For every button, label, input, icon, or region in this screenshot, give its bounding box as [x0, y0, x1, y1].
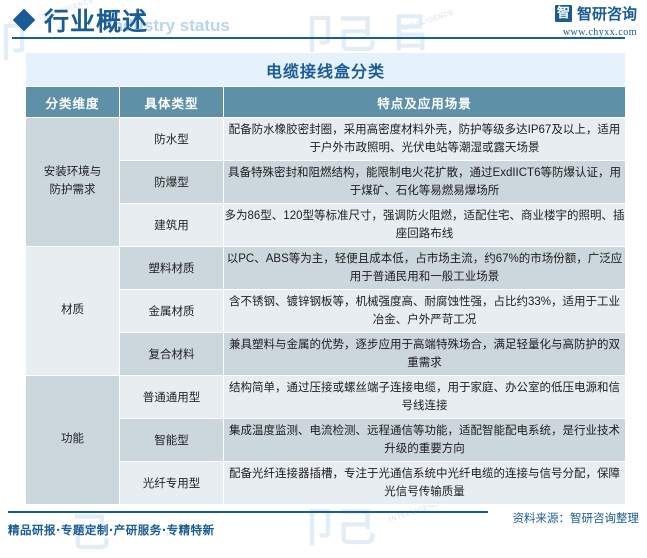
header-divider [12, 37, 625, 39]
classification-table: 电缆接线盒分类分类维度具体类型特点及应用场景安装环境与防护需求防水型配备防水橡胶… [25, 52, 626, 505]
brand-block: 智 智研咨询 www.chyxx.com [555, 3, 637, 38]
table-row: 材质塑料材质以PC、ABS等为主，轻便且成本低，占市场主流，约67%的市场份额，… [26, 247, 625, 289]
footer-source: 资料来源：智研咨询整理 [513, 510, 640, 526]
table-row: 功能普通通用型结构简单，通过压接或螺丝端子连接电缆，用于家庭、办公室的低压电源和… [26, 376, 625, 418]
dimension-cell: 材质 [26, 247, 119, 375]
page-footer: 精品研报·专题定制·产研服务·专精特新 资料来源：智研咨询整理 [0, 502, 647, 546]
footer-tagline: 精品研报·专题定制·产研服务·专精特新 [8, 522, 215, 538]
table-row: 安装环境与防护需求防水型配备防水橡胶密封圈，采用高密度材料外壳，防护等级多达IP… [26, 118, 625, 160]
type-cell: 复合材料 [120, 333, 223, 375]
description-cell: 集成温度监测、电流检测、远程通信等功能，适配智能配电系统，是行业技术升级的重要方… [224, 419, 625, 461]
classification-table-wrapper: 电缆接线盒分类分类维度具体类型特点及应用场景安装环境与防护需求防水型配备防水橡胶… [25, 52, 624, 505]
description-cell: 兼具塑料与金属的优势，逐步应用于高端特殊场合，满足轻量化与高防护的双重需求 [224, 333, 625, 375]
page-header: Industry status 行业概述 智 智研咨询 www.chyxx.co… [0, 0, 647, 45]
page-title: 行业概述 [44, 2, 148, 38]
type-cell: 智能型 [120, 419, 223, 461]
type-cell: 普通通用型 [120, 376, 223, 418]
description-cell: 具备特殊密封和阻燃结构，能限制电火花扩散，通过ExdIICT6等防爆认证，用于煤… [224, 161, 625, 203]
column-header-1: 具体类型 [120, 87, 223, 117]
table-header-row: 分类维度具体类型特点及应用场景 [26, 87, 625, 117]
description-cell: 结构简单，通过压接或螺丝端子连接电缆，用于家庭、办公室的低压电源和信号线连接 [224, 376, 625, 418]
type-cell: 建筑用 [120, 204, 223, 246]
type-cell: 塑料材质 [120, 247, 223, 289]
type-cell: 金属材质 [120, 290, 223, 332]
description-cell: 多为86型、120型等标准尺寸，强调防火阻燃，适配住宅、商业楼宇的照明、插座回路… [224, 204, 625, 246]
description-cell: 以PC、ABS等为主，轻便且成本低，占市场主流，约67%的市场份额，广泛应用于普… [224, 247, 625, 289]
brand-logo-icon: 智 [555, 5, 572, 22]
type-cell: 防爆型 [120, 161, 223, 203]
type-cell: 光纤专用型 [120, 462, 223, 504]
brand-name: 智研咨询 [577, 3, 637, 24]
description-cell: 含不锈钢、镀锌钢板等，机械强度高、耐腐蚀性强，占比约33%，适用于工业冶金、户外… [224, 290, 625, 332]
brand-url: www.chyxx.com [555, 27, 637, 38]
type-cell: 防水型 [120, 118, 223, 160]
table-body: 电缆接线盒分类分类维度具体类型特点及应用场景安装环境与防护需求防水型配备防水橡胶… [26, 53, 625, 504]
dimension-cell: 安装环境与防护需求 [26, 118, 119, 246]
column-header-2: 特点及应用场景 [224, 87, 625, 117]
table-title: 电缆接线盒分类 [26, 53, 625, 86]
footer-divider [8, 511, 488, 513]
diamond-bullet-icon [13, 9, 36, 32]
description-cell: 配备光纤连接器插槽，专注于光通信系统中光纤电缆的连接与信号分配，保障光信号传输质… [224, 462, 625, 504]
dimension-cell: 功能 [26, 376, 119, 504]
column-header-0: 分类维度 [26, 87, 119, 117]
description-cell: 配备防水橡胶密封圈，采用高密度材料外壳，防护等级多达IP67及以上，适用于户外市… [224, 118, 625, 160]
